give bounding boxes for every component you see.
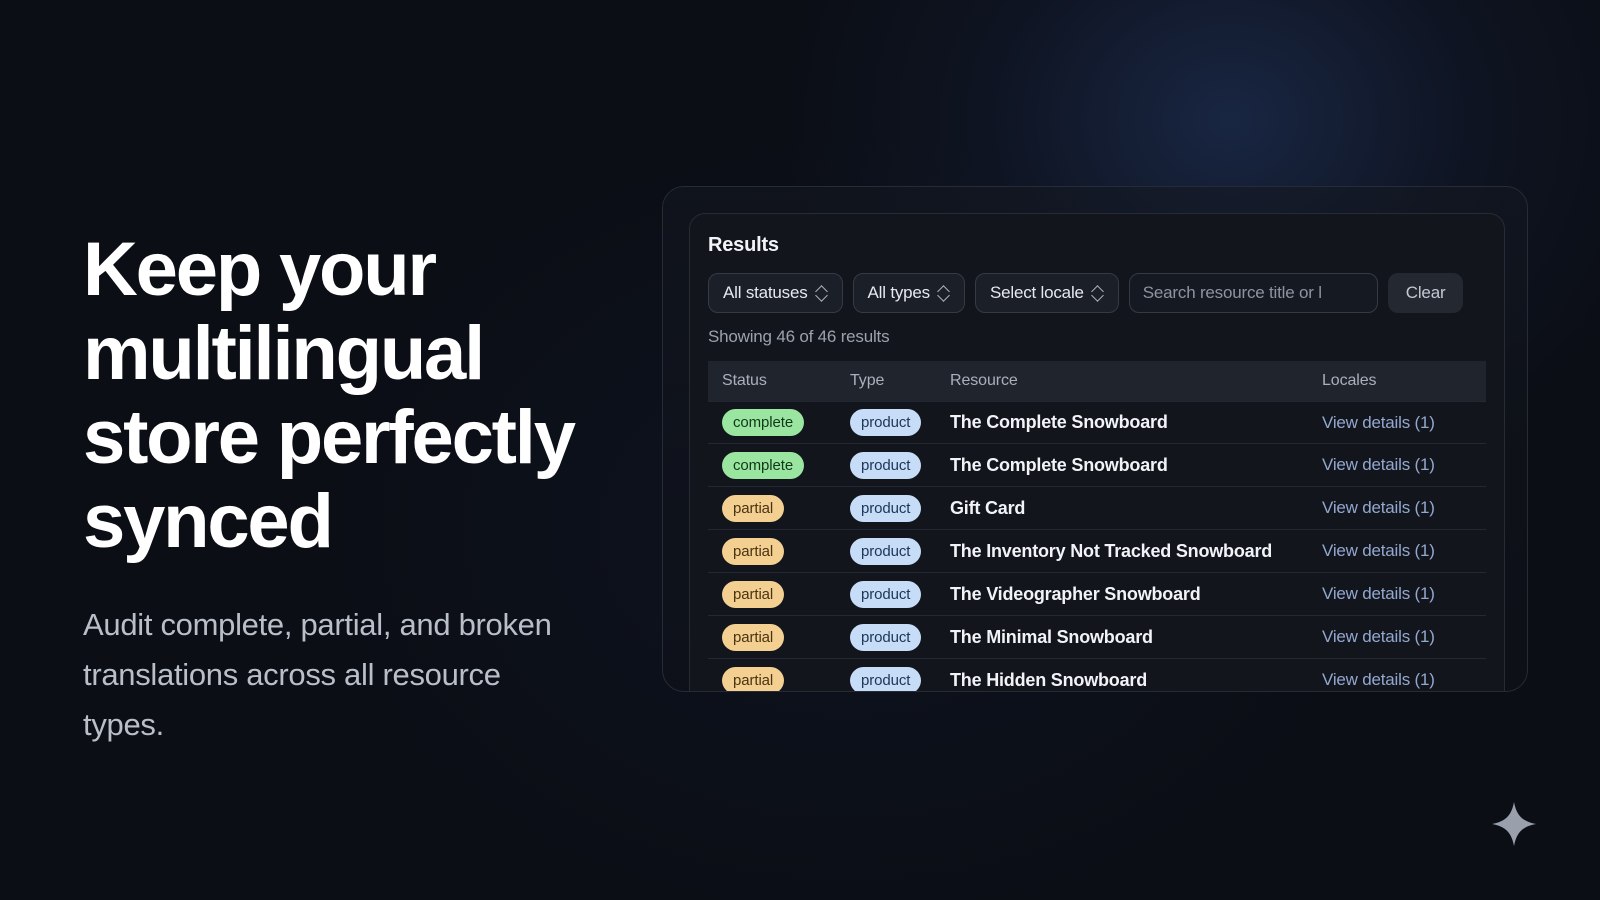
type-badge: product (850, 624, 921, 651)
chevron-updown-icon (939, 285, 950, 301)
view-details-link[interactable]: View details (1) (1322, 584, 1435, 603)
chevron-updown-icon (817, 285, 828, 301)
type-badge: product (850, 581, 921, 608)
type-badge: product (850, 538, 921, 565)
type-badge: product (850, 409, 921, 436)
table-row[interactable]: completeproductThe Complete SnowboardVie… (708, 401, 1486, 444)
table-row[interactable]: partialproductThe Inventory Not Tracked … (708, 530, 1486, 573)
view-details-link[interactable]: View details (1) (1322, 670, 1435, 689)
cell-resource: The Hidden Snowboard (950, 670, 1322, 691)
cell-locales: View details (1) (1322, 455, 1472, 475)
promo-slide: Keep your multilingual store perfectly s… (0, 0, 1600, 900)
cell-status: partial (722, 624, 850, 651)
status-badge: partial (722, 667, 784, 693)
cell-locales: View details (1) (1322, 541, 1472, 561)
type-filter-select[interactable]: All types (853, 273, 965, 313)
app-window-frame: Results All statuses All types Select lo… (662, 186, 1528, 692)
locale-filter-label: Select locale (990, 283, 1084, 303)
type-filter-label: All types (868, 283, 930, 303)
cell-resource: The Videographer Snowboard (950, 584, 1322, 605)
hero-copy: Keep your multilingual store perfectly s… (83, 228, 643, 750)
cell-resource: The Complete Snowboard (950, 412, 1322, 433)
cell-type: product (850, 409, 950, 436)
table-row[interactable]: partialproductThe Minimal SnowboardView … (708, 616, 1486, 659)
type-badge: product (850, 495, 921, 522)
table-row[interactable]: partialproductThe Hidden SnowboardView d… (708, 659, 1486, 692)
cell-status: partial (722, 495, 850, 522)
status-badge: complete (722, 409, 804, 436)
cell-type: product (850, 452, 950, 479)
cell-status: partial (722, 581, 850, 608)
status-badge: partial (722, 495, 784, 522)
results-heading: Results (708, 234, 1486, 257)
cell-locales: View details (1) (1322, 627, 1472, 647)
results-count: Showing 46 of 46 results (708, 327, 1486, 347)
column-header-locales: Locales (1322, 372, 1472, 390)
cell-locales: View details (1) (1322, 498, 1472, 518)
cell-status: partial (722, 538, 850, 565)
search-input[interactable] (1129, 273, 1378, 313)
filter-bar: All statuses All types Select locale Cle… (708, 273, 1486, 313)
table-header-row: Status Type Resource Locales (708, 361, 1486, 401)
status-badge: partial (722, 624, 784, 651)
status-badge: partial (722, 581, 784, 608)
view-details-link[interactable]: View details (1) (1322, 455, 1435, 474)
hero-subtitle: Audit complete, partial, and broken tran… (83, 600, 583, 750)
cell-locales: View details (1) (1322, 670, 1472, 690)
cell-status: complete (722, 409, 850, 436)
results-table: Status Type Resource Locales completepro… (708, 361, 1486, 692)
view-details-link[interactable]: View details (1) (1322, 498, 1435, 517)
table-row[interactable]: completeproductThe Complete SnowboardVie… (708, 444, 1486, 487)
cell-status: complete (722, 452, 850, 479)
sparkle-icon (1490, 800, 1538, 848)
view-details-link[interactable]: View details (1) (1322, 627, 1435, 646)
status-filter-select[interactable]: All statuses (708, 273, 843, 313)
status-filter-label: All statuses (723, 283, 808, 303)
cell-resource: The Minimal Snowboard (950, 627, 1322, 648)
status-badge: partial (722, 538, 784, 565)
cell-type: product (850, 667, 950, 693)
cell-type: product (850, 495, 950, 522)
cell-status: partial (722, 667, 850, 693)
column-header-resource: Resource (950, 372, 1322, 390)
cell-resource: The Complete Snowboard (950, 455, 1322, 476)
page-title: Keep your multilingual store perfectly s… (83, 228, 643, 564)
cell-locales: View details (1) (1322, 584, 1472, 604)
table-row[interactable]: partialproductGift CardView details (1) (708, 487, 1486, 530)
cell-type: product (850, 538, 950, 565)
column-header-type: Type (850, 372, 950, 390)
table-row[interactable]: partialproductThe Videographer Snowboard… (708, 573, 1486, 616)
cell-resource: The Inventory Not Tracked Snowboard (950, 541, 1322, 562)
status-badge: complete (722, 452, 804, 479)
cell-locales: View details (1) (1322, 413, 1472, 433)
cell-type: product (850, 581, 950, 608)
locale-filter-select[interactable]: Select locale (975, 273, 1119, 313)
chevron-updown-icon (1093, 285, 1104, 301)
results-card: Results All statuses All types Select lo… (689, 213, 1505, 692)
clear-filters-button[interactable]: Clear (1388, 273, 1464, 313)
view-details-link[interactable]: View details (1) (1322, 541, 1435, 560)
column-header-status: Status (722, 372, 850, 390)
cell-type: product (850, 624, 950, 651)
type-badge: product (850, 667, 921, 693)
view-details-link[interactable]: View details (1) (1322, 413, 1435, 432)
cell-resource: Gift Card (950, 498, 1322, 519)
type-badge: product (850, 452, 921, 479)
table-body: completeproductThe Complete SnowboardVie… (708, 401, 1486, 692)
